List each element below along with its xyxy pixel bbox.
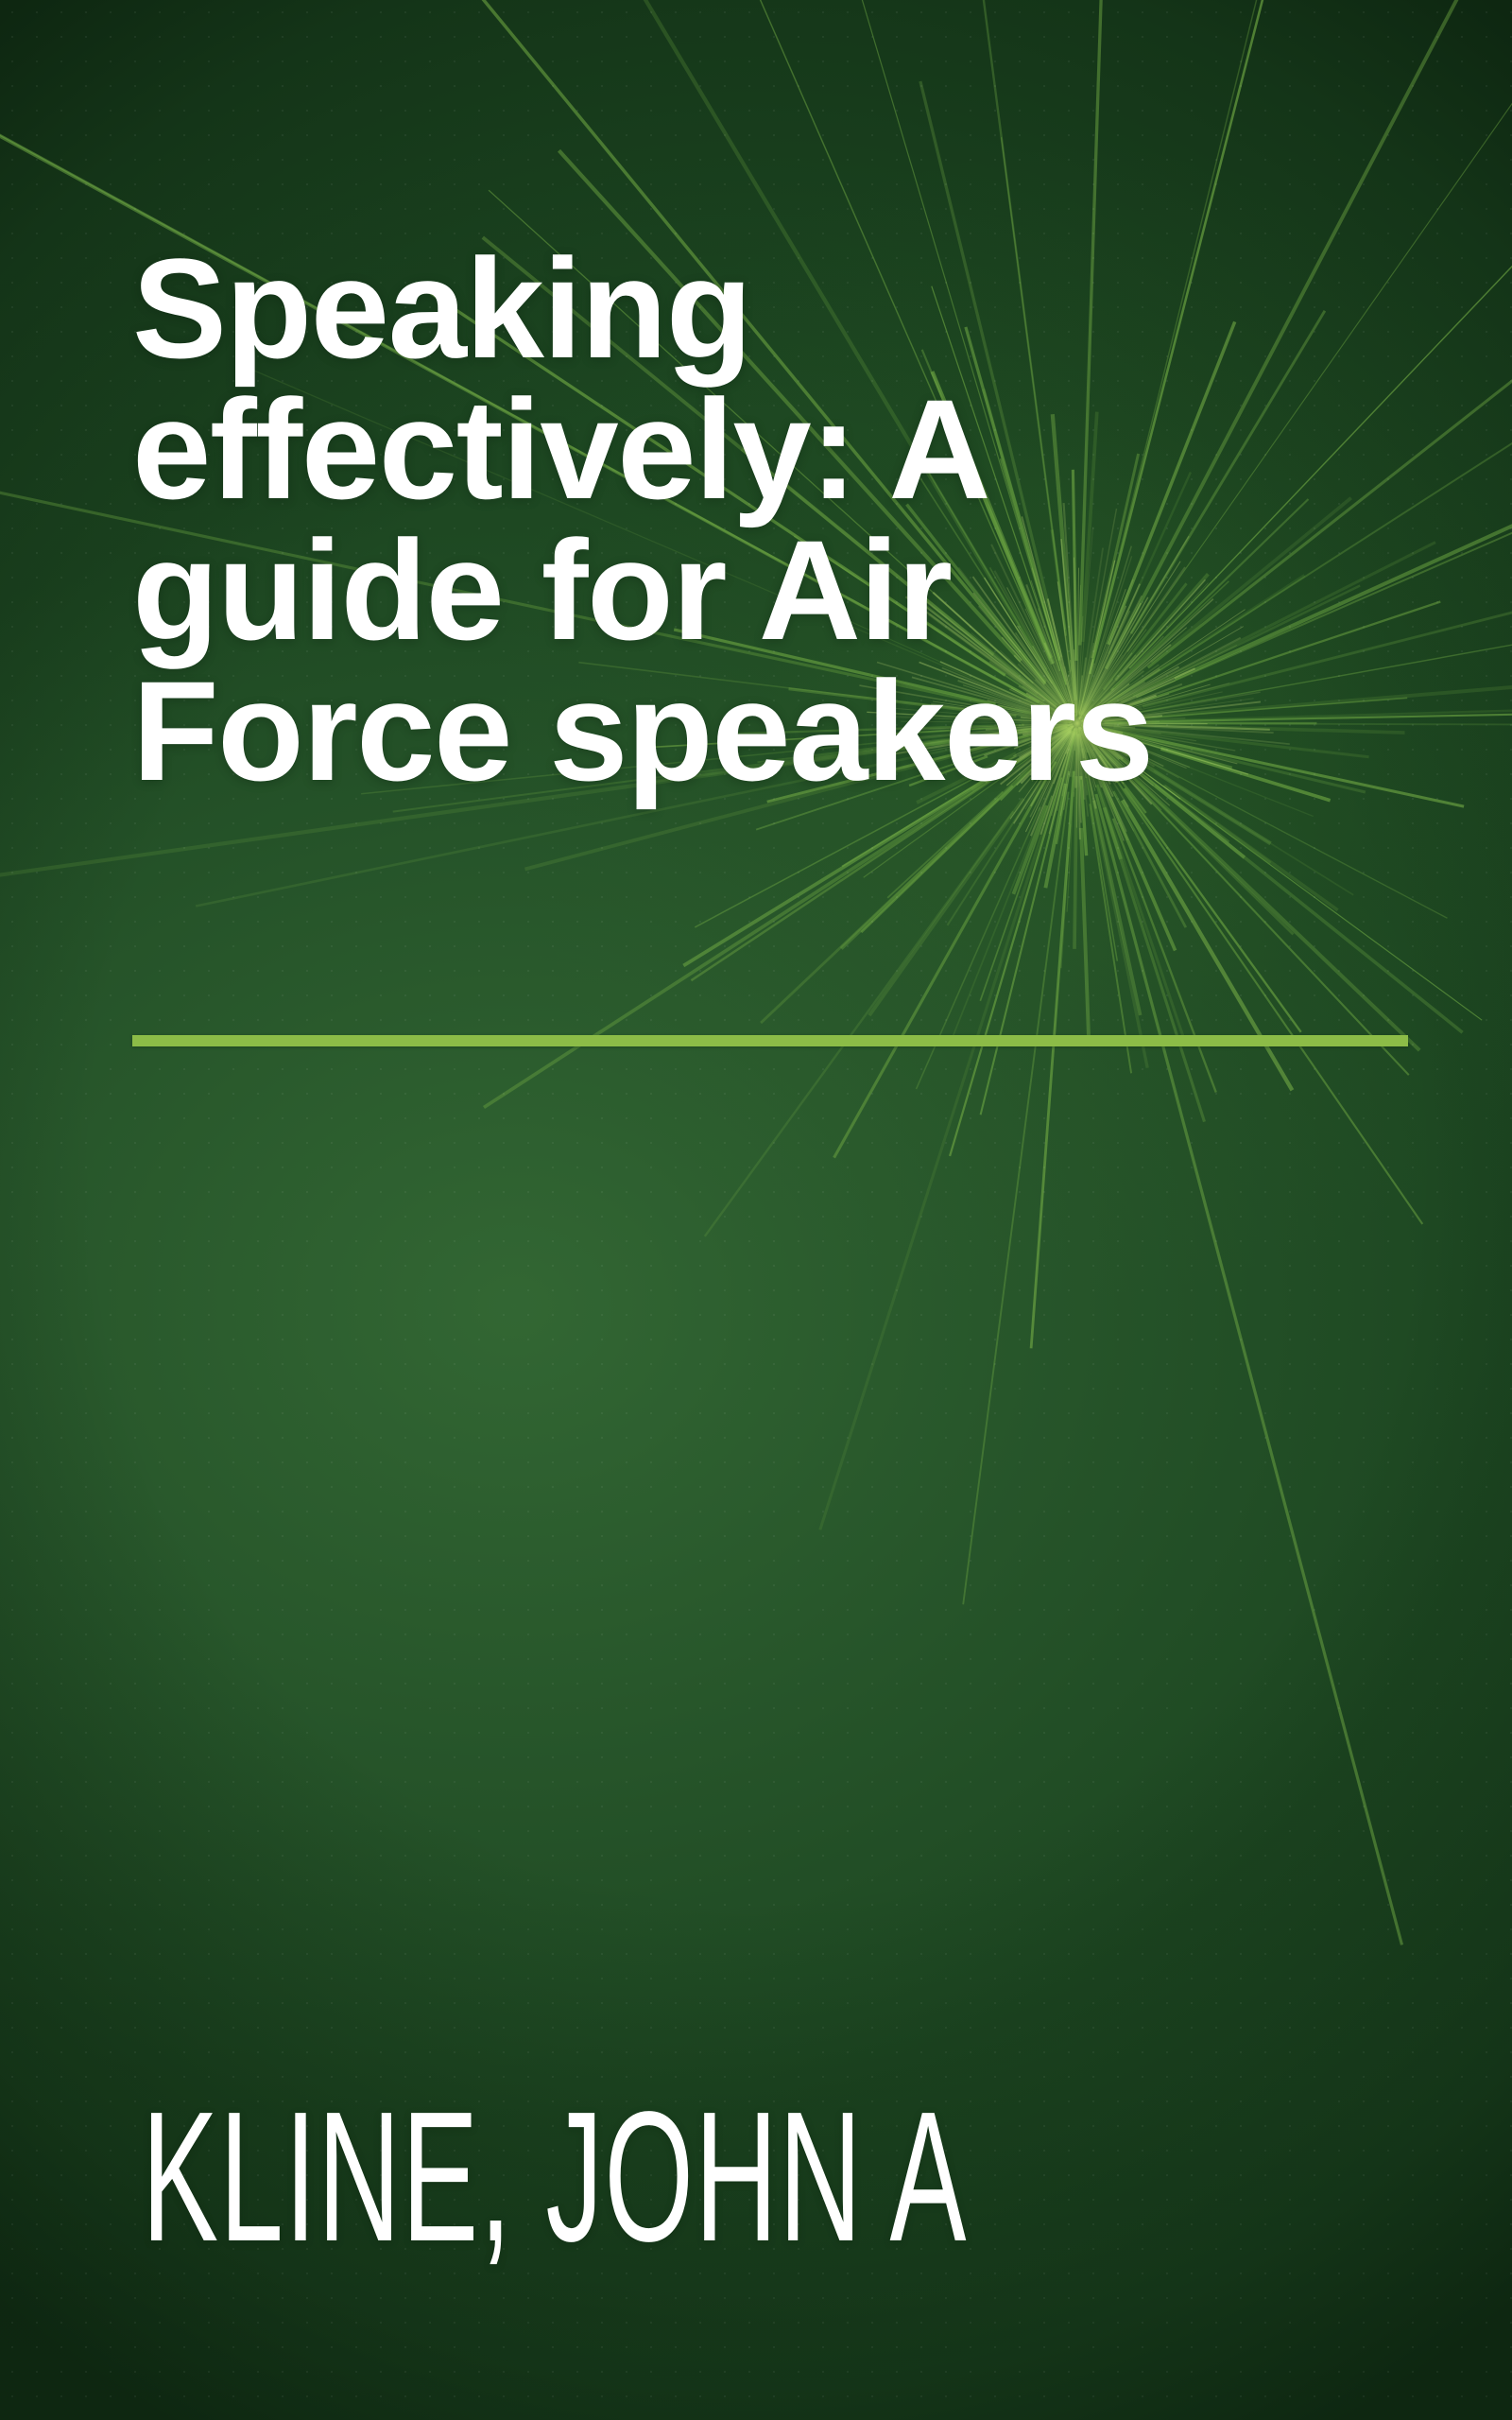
title-divider-rule [132,1035,1408,1046]
author-name: KLINE, JOHN A [142,2084,968,2270]
title-line-4: Force speakers [132,661,1455,802]
title-line-3: guide for Air [132,520,1455,661]
book-title: Speaking effectively: A guide for Air Fo… [132,238,1455,802]
book-cover: Speaking effectively: A guide for Air Fo… [0,0,1512,2420]
title-line-2: effectively: A [132,379,1455,520]
title-line-1: Speaking [132,238,1455,379]
